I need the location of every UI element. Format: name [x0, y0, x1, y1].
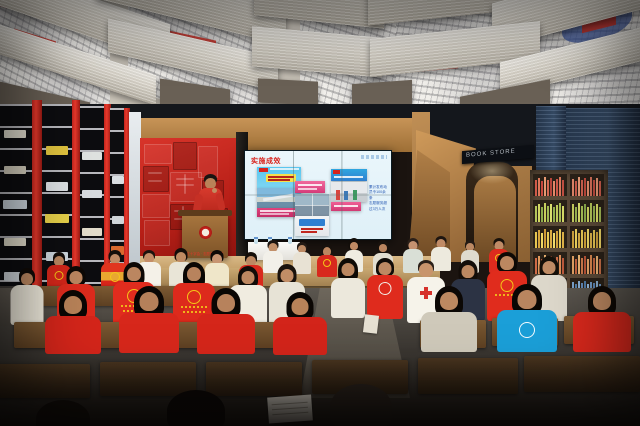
book-spine: [46, 182, 68, 191]
head: [64, 296, 82, 314]
book-spine: [4, 130, 26, 138]
book-spine: [82, 152, 102, 160]
head: [187, 267, 201, 281]
volunteer-blue-vest: [496, 284, 558, 350]
head: [217, 294, 235, 312]
book-spine: [45, 214, 69, 223]
backdrop-book-panel: [143, 166, 169, 192]
vest-logo-icon: [519, 322, 535, 338]
water-bottle: [254, 234, 258, 244]
head: [500, 256, 514, 270]
book-spine: [4, 166, 26, 174]
head: [140, 292, 159, 311]
book-spine: [112, 216, 124, 224]
slide-card-center: [295, 181, 325, 193]
shoulders-vest: [45, 316, 101, 354]
shoulders-vest: [573, 312, 631, 352]
presenter-hand: [212, 188, 217, 193]
store-sign-label: BOOK STORE: [466, 148, 516, 158]
shoulders: [331, 278, 365, 318]
volunteer-red-vest: [10, 268, 44, 324]
blue-slat-wall-upper: [536, 106, 566, 176]
bookcase-cell: [570, 252, 604, 274]
shoulders-vest: [197, 314, 255, 354]
foreground-attendee: [28, 400, 98, 426]
chair-front: [524, 356, 640, 392]
bookcase-cell: [570, 200, 604, 222]
volunteer-red-vest-front: [272, 292, 328, 352]
backdrop-glyph: [184, 174, 186, 194]
head: [127, 267, 141, 281]
head: [440, 292, 458, 310]
head: [342, 263, 355, 276]
head: [462, 265, 475, 278]
book-spine: [82, 190, 102, 198]
shoulders-vest: [273, 317, 327, 355]
head: [518, 290, 537, 309]
backdrop-book-panel: [144, 144, 172, 164]
handout-paper[interactable]: [267, 394, 313, 423]
head: [21, 273, 33, 285]
head: [350, 242, 358, 250]
hair: [330, 384, 392, 426]
head: [593, 292, 611, 310]
head: [543, 261, 556, 274]
volunteer-red-vest-front: [44, 290, 102, 352]
backdrop-glyph: [148, 172, 162, 174]
chair-front: [0, 364, 90, 398]
volunteer-red-vest-front: [118, 286, 180, 352]
bookcase-cell: [533, 226, 567, 248]
slide-logo: [361, 155, 387, 159]
book-spine: [3, 200, 27, 209]
book-spine: [82, 228, 102, 236]
head: [292, 298, 309, 315]
backdrop-glyph: [148, 180, 162, 182]
handout-paper[interactable]: [363, 314, 379, 334]
backdrop-book-panel: [142, 194, 170, 218]
lectern-emblem: [199, 226, 212, 239]
bookcase-cell: [533, 174, 567, 196]
hair: [36, 400, 90, 426]
head: [379, 262, 392, 275]
attendee: [420, 286, 478, 350]
slide-title: 实施成效: [251, 156, 281, 166]
head: [379, 244, 387, 252]
lectern-top: [178, 210, 232, 216]
scene-root: BOOK STORE: [0, 0, 640, 426]
book-spine: [46, 146, 68, 155]
backdrop-book-panel: [173, 142, 197, 170]
volunteer-red-vest: [366, 258, 404, 320]
volunteer-red-vest-front: [196, 288, 256, 352]
head: [281, 269, 294, 282]
head: [70, 271, 83, 284]
foreground-attendee: [158, 390, 234, 426]
head: [176, 252, 186, 262]
slat-texture: [536, 106, 566, 176]
head: [242, 271, 255, 284]
acoustic-slab: [258, 78, 318, 105]
slide-card-right-pink: [331, 202, 361, 211]
volunteer-red-vest-front: [572, 286, 632, 350]
head: [419, 263, 433, 277]
shoulders-vest: [119, 313, 179, 353]
slide-card-right-photo: [331, 182, 367, 202]
presentation-screen[interactable]: 实施成效: [244, 150, 392, 240]
screen-surface: 实施成效: [245, 151, 391, 239]
hair: [167, 390, 225, 426]
book-spine: [112, 176, 124, 184]
slide-card-right: [331, 169, 367, 181]
vest-logo-icon: [379, 282, 392, 295]
slide-card-grid: [295, 194, 329, 216]
foreground-attendee: [318, 384, 404, 426]
shoulders: [421, 312, 477, 352]
bookcase-cell: [570, 226, 604, 248]
book-spine: [4, 238, 26, 246]
shoulders: [11, 285, 44, 325]
slide-body-text: 累计发布动员令100余条 志愿服务超过3万人次: [369, 185, 389, 212]
backdrop-book-panel: [144, 220, 170, 246]
chair-front: [418, 358, 518, 394]
attendee: [330, 258, 366, 318]
slide-card-bottom: [295, 216, 329, 236]
bookcase-cell: [570, 174, 604, 196]
bookcase-cell: [533, 200, 567, 222]
